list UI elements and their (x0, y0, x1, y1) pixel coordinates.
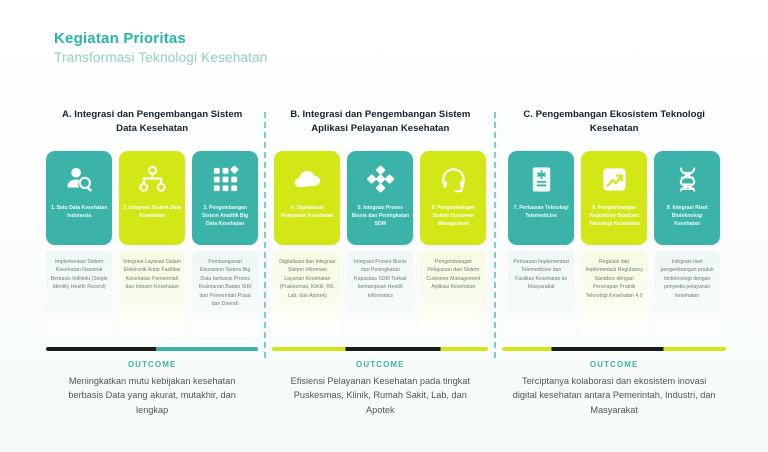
card-c-3-label: 9. Integrasi Riset Bioteknologi Kesehata… (654, 205, 720, 229)
column-a-cards: 1. Satu Data Kesehatan Indonesia 2. Inte… (46, 151, 258, 245)
column-a-heading: A. Integrasi dan Pengembangan Sistem Dat… (46, 108, 258, 142)
columns-container: A. Integrasi dan Pengembangan Sistem Dat… (46, 108, 726, 428)
card-a-3[interactable]: 3. Pengembangan Sistem Analitik Big Data… (192, 151, 258, 245)
card-a-2[interactable]: 2. Integrasi Sistem Data Kesehatan (119, 151, 185, 245)
column-a: A. Integrasi dan Pengembangan Sistem Dat… (46, 108, 258, 417)
desc-b-2: Integrasi Proses Bisnis dan Peningkatan … (347, 251, 413, 337)
column-b-cards: 4. Digitalisasi Pelayanan Kesehatan 5. I… (272, 151, 488, 245)
column-divider-1 (264, 112, 266, 358)
desc-c-2: Regulasi dan Implementasi Regulatory San… (581, 251, 647, 337)
card-a-1[interactable]: 1. Satu Data Kesehatan Indonesia (46, 151, 112, 245)
cloud-icon (290, 162, 324, 196)
outcome-b-label: OUTCOME (272, 360, 488, 369)
card-c-2-label: 8. Pengembangan Regulatory Sandbox Tekno… (581, 205, 647, 229)
user-search-icon (62, 162, 96, 196)
headset-support-icon (436, 162, 470, 196)
page-subtitle: Transformasi Teknologi Kesehatan (54, 50, 268, 65)
card-a-1-label: 1. Satu Data Kesehatan Indonesia (46, 205, 112, 221)
header: Kegiatan Prioritas Transformasi Teknolog… (54, 30, 268, 65)
infographic-page: Kegiatan Prioritas Transformasi Teknolog… (0, 0, 768, 452)
card-a-2-label: 2. Integrasi Sistem Data Kesehatan (119, 205, 185, 221)
column-b-descriptions: Digitalisasi dan Integrasi Sistem Inform… (272, 251, 488, 337)
outcome-a-text: Meningkatkan mutu kebijakan kesehatan be… (46, 374, 258, 417)
outcome-c-label: OUTCOME (502, 360, 726, 369)
column-b: B. Integrasi dan Pengembangan Sistem Apl… (272, 108, 488, 417)
desc-c-3: Integrasi riset pengembangan produk biot… (654, 251, 720, 337)
card-b-2[interactable]: 5. Integrasi Proses Bisnis dan Peningkat… (347, 151, 413, 245)
outcome-c-text: Terciptanya kolaborasi dan ekosistem ino… (502, 374, 726, 417)
desc-a-2: Integrasi Layanan Dalam Elektronik Antar… (119, 251, 185, 337)
column-c-cards: 7. Perluasan Teknologi Telemedicine 8. P… (502, 151, 726, 245)
network-nodes-icon (135, 162, 169, 196)
outcome-a-label: OUTCOME (46, 360, 258, 369)
big-data-grid-icon (208, 162, 242, 196)
card-a-3-label: 3. Pengembangan Sistem Analitik Big Data… (192, 205, 258, 229)
outcome-divider-c (502, 347, 726, 351)
card-b-1[interactable]: 4. Digitalisasi Pelayanan Kesehatan (274, 151, 340, 245)
desc-a-3: Pembangunan Ekosistem Sistem Big Data be… (192, 251, 258, 337)
card-c-2[interactable]: 8. Pengembangan Regulatory Sandbox Tekno… (581, 151, 647, 245)
card-c-1-label: 7. Perluasan Teknologi Telemedicine (508, 205, 574, 221)
desc-a-1: Implementasi Sistem Kesehatan Nasional B… (46, 251, 112, 337)
dna-biotech-icon (670, 162, 704, 196)
column-divider-2 (494, 112, 496, 358)
column-b-heading: B. Integrasi dan Pengembangan Sistem Apl… (272, 108, 488, 142)
diamond-cluster-icon (363, 162, 397, 196)
card-b-1-label: 4. Digitalisasi Pelayanan Kesehatan (274, 205, 340, 221)
page-title: Kegiatan Prioritas (54, 30, 268, 47)
medical-document-icon (524, 162, 558, 196)
card-b-3-label: 6. Pengembangan Sistem Customer Manageme… (420, 205, 486, 229)
outcome-b-text: Efisiensi Pelayanan Kesehatan pada tingk… (272, 374, 488, 417)
desc-c-1: Perluasan Implementasi Telemedicine dan … (508, 251, 574, 337)
card-c-1[interactable]: 7. Perluasan Teknologi Telemedicine (508, 151, 574, 245)
column-c-descriptions: Perluasan Implementasi Telemedicine dan … (502, 251, 726, 337)
column-c-heading: C. Pengembangan Ekosistem Teknologi Kese… (502, 108, 726, 142)
column-c: C. Pengembangan Ekosistem Teknologi Kese… (502, 108, 726, 417)
card-b-3[interactable]: 6. Pengembangan Sistem Customer Manageme… (420, 151, 486, 245)
innovation-growth-icon (597, 162, 631, 196)
outcome-divider-b (272, 347, 488, 351)
card-c-3[interactable]: 9. Integrasi Riset Bioteknologi Kesehata… (654, 151, 720, 245)
outcome-divider-a (46, 347, 258, 351)
column-a-descriptions: Implementasi Sistem Kesehatan Nasional B… (46, 251, 258, 337)
card-b-2-label: 5. Integrasi Proses Bisnis dan Peningkat… (347, 205, 413, 229)
desc-b-1: Digitalisasi dan Integrasi Sistem Inform… (274, 251, 340, 337)
desc-b-3: Pengembangan Pelayanan dan Sistem Custom… (420, 251, 486, 337)
